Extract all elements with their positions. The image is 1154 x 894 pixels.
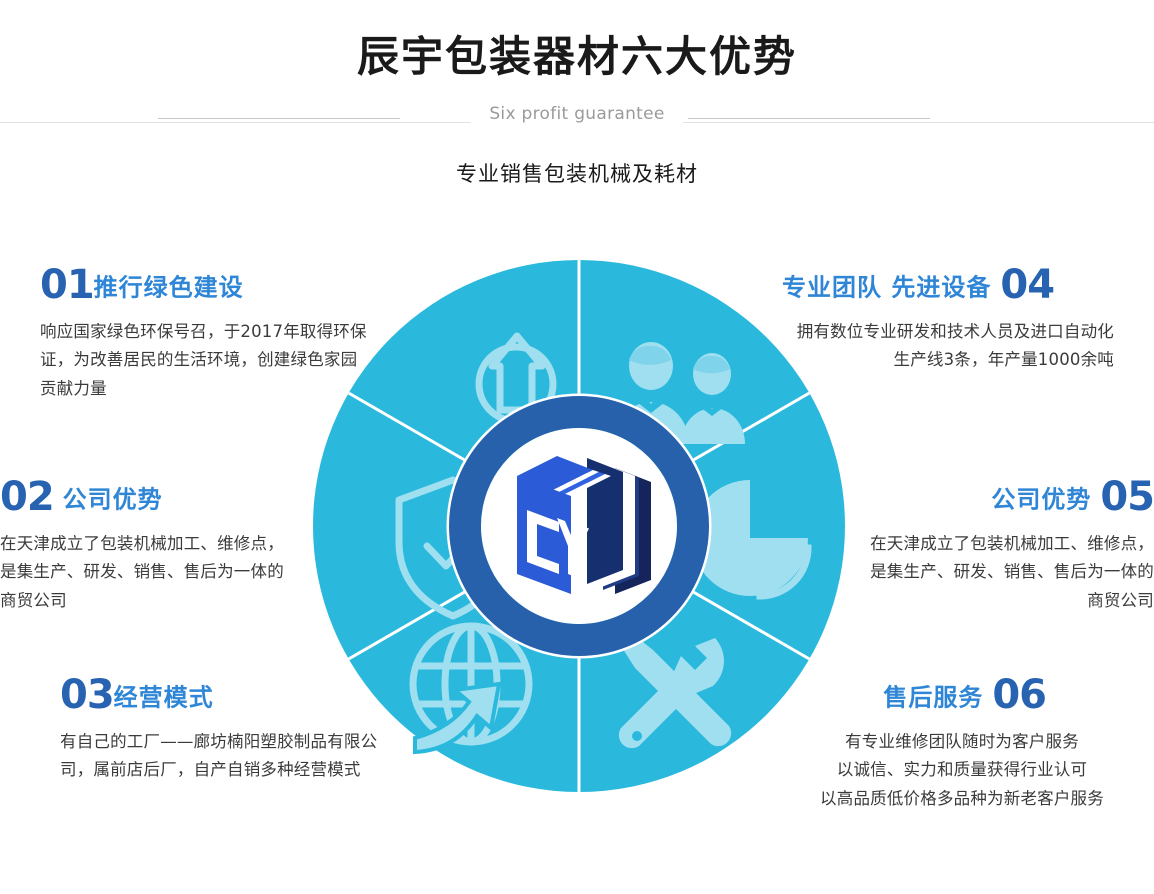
feature-04: 专业团队 先进设备04 拥有数位专业研发和技术人员及进口自动化生产线3条，年产量…: [782, 262, 1114, 375]
feature-05-body: 在天津成立了包装机械加工、维修点，是集生产、研发、销售、售后为一体的商贸公司: [858, 530, 1154, 615]
feature-03-number: 03: [60, 672, 114, 718]
feature-04-number: 04: [1000, 262, 1054, 308]
feature-01: 01推行绿色建设 响应国家绿色环保号召，于2017年取得环保证，为改善居民的生活…: [40, 262, 372, 403]
feature-02-heading: 02公司优势: [0, 474, 290, 520]
feature-06-body: 有专业维修团队随时为客户服务 以诚信、实力和质量获得行业认可 以高品质低价格多品…: [770, 728, 1154, 813]
rule-label-wrap: Six profit guarantee: [0, 104, 1154, 124]
feature-01-title: 推行绿色建设: [94, 274, 244, 302]
page-title: 辰宇包装器材六大优势: [0, 34, 1154, 80]
feature-03-heading: 03经营模式: [60, 672, 390, 718]
feature-06-number: 06: [992, 672, 1046, 718]
feature-01-heading: 01推行绿色建设: [40, 262, 372, 308]
rule-label-text: Six profit guarantee: [471, 104, 682, 124]
feature-05-heading: 公司优势05: [858, 474, 1154, 520]
feature-02-body: 在天津成立了包装机械加工、维修点，是集生产、研发、销售、售后为一体的商贸公司: [0, 530, 290, 615]
feature-02: 02公司优势 在天津成立了包装机械加工、维修点，是集生产、研发、销售、售后为一体…: [0, 474, 290, 615]
feature-02-title: 公司优势: [63, 486, 163, 514]
feature-05-number: 05: [1100, 474, 1154, 520]
feature-03-title: 经营模式: [114, 684, 214, 712]
feature-03: 03经营模式 有自己的工厂——廊坊楠阳塑胶制品有限公司，属前店后厂，自产自销多种…: [60, 672, 390, 785]
feature-06-heading: 售后服务06: [770, 672, 1154, 718]
feature-01-number: 01: [40, 262, 94, 308]
feature-05: 公司优势05 在天津成立了包装机械加工、维修点，是集生产、研发、销售、售后为一体…: [858, 474, 1154, 615]
infographic-page: 辰宇包装器材六大优势 Six profit guarantee 专业销售包装机械…: [0, 0, 1154, 894]
feature-04-heading: 专业团队 先进设备04: [782, 262, 1114, 308]
subtitle-rule: Six profit guarantee: [0, 104, 1154, 146]
feature-03-body: 有自己的工厂——廊坊楠阳塑胶制品有限公司，属前店后厂，自产自销多种经营模式: [60, 728, 390, 785]
feature-04-title: 专业团队 先进设备: [782, 274, 991, 302]
feature-04-body: 拥有数位专业研发和技术人员及进口自动化生产线3条，年产量1000余吨: [782, 318, 1114, 375]
feature-05-title: 公司优势: [991, 486, 1091, 514]
feature-06-title: 售后服务: [883, 684, 983, 712]
page-subtitle: 专业销售包装机械及耗材: [0, 158, 1154, 188]
feature-06: 售后服务06 有专业维修团队随时为客户服务 以诚信、实力和质量获得行业认可 以高…: [770, 672, 1154, 813]
feature-02-number: 02: [0, 474, 54, 520]
feature-01-body: 响应国家绿色环保号召，于2017年取得环保证，为改善居民的生活环境，创建绿色家园…: [40, 318, 372, 403]
